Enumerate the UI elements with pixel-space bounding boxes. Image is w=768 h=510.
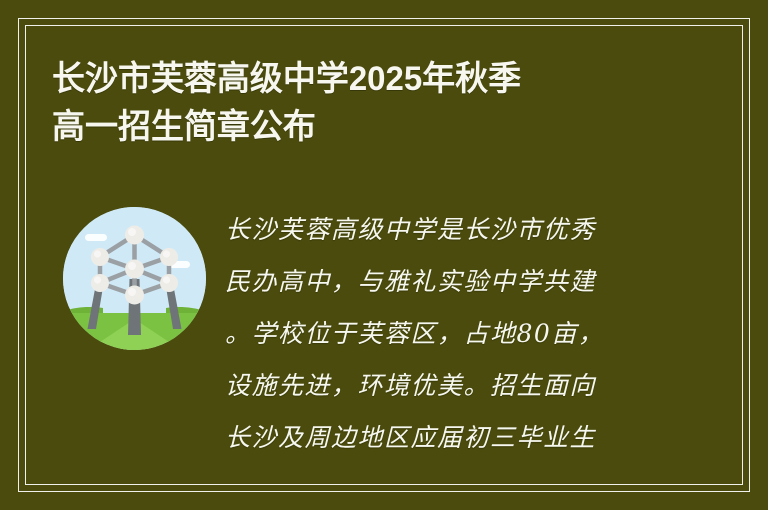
page-title: 长沙市芙蓉高级中学2025年秋季 高一招生简章公布 <box>52 55 702 151</box>
atomium-monument-icon <box>63 207 206 350</box>
body-line-3: 。学校位于芙蓉区，占地80亩， <box>225 308 680 360</box>
body-line-5: 长沙及周边地区应届初三毕业生 <box>225 412 680 464</box>
title-line-2: 高一招生简章公布 <box>52 103 683 151</box>
content-area: 长沙芙蓉高级中学是长沙市优秀 民办高中，与雅礼实验中学共建 。学校位于芙蓉区，占… <box>52 200 716 460</box>
body-paragraph: 长沙芙蓉高级中学是长沙市优秀 民办高中，与雅礼实验中学共建 。学校位于芙蓉区，占… <box>225 204 680 464</box>
illustration-circle <box>63 207 206 350</box>
body-line-4: 设施先进，环境优美。招生面向 <box>225 360 680 412</box>
atomium-illustration-svg <box>63 207 206 350</box>
poster-canvas: 长沙市芙蓉高级中学2025年秋季 高一招生简章公布 <box>0 0 768 510</box>
body-line-1: 长沙芙蓉高级中学是长沙市优秀 <box>225 204 680 256</box>
body-line-2: 民办高中，与雅礼实验中学共建 <box>225 256 680 308</box>
title-line-1: 长沙市芙蓉高级中学2025年秋季 <box>52 55 683 103</box>
